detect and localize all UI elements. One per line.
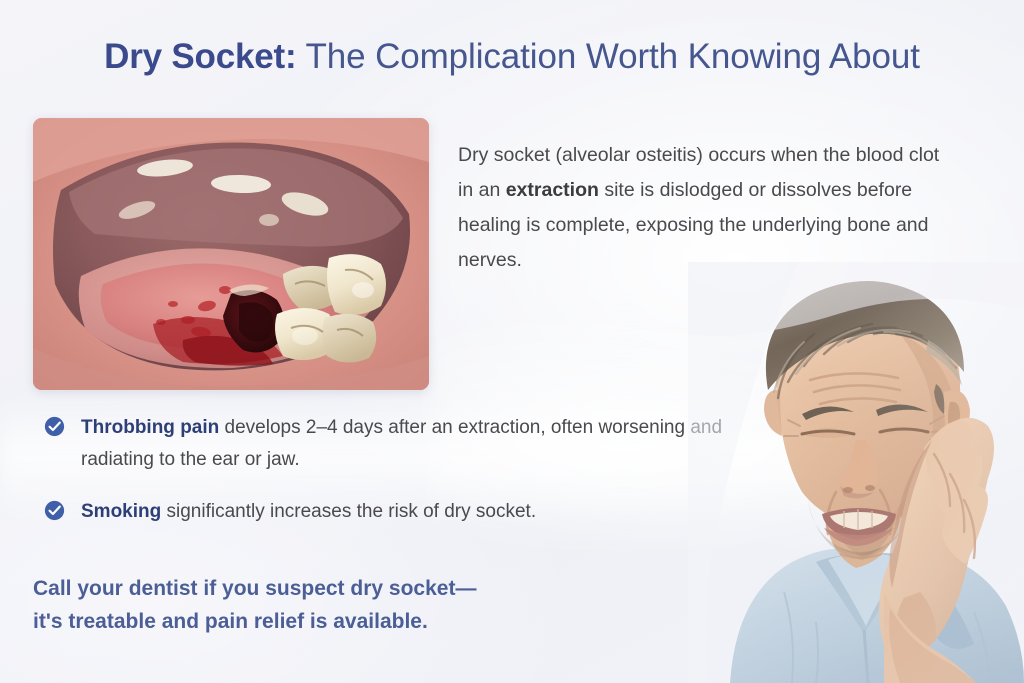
check-circle-glyph: [44, 500, 65, 521]
symptom-bullet-list: Throbbing pain develops 2–4 days after a…: [44, 412, 774, 528]
intro-text-emphasis: extraction: [506, 179, 599, 201]
cta-line-1: Call your dentist if you suspect dry soc…: [33, 572, 633, 605]
list-item-lead: Throbbing pain: [81, 417, 219, 438]
cta-line-2: it's treatable and pain relief is availa…: [33, 605, 633, 638]
intro-paragraph: Dry socket (alveolar osteitis) occurs wh…: [458, 138, 950, 278]
check-circle-glyph: [44, 416, 65, 437]
dry-socket-clinical-photo: [33, 118, 429, 390]
page-title-light: The Complication Worth Knowing About: [296, 37, 919, 76]
page-title: Dry Socket: The Complication Worth Knowi…: [0, 36, 1024, 77]
list-item-text: Smoking significantly increases the risk…: [81, 501, 536, 522]
list-item: Smoking significantly increases the risk…: [44, 496, 774, 528]
infographic-canvas: Dry Socket: The Complication Worth Knowi…: [0, 0, 1024, 683]
list-item: Throbbing pain develops 2–4 days after a…: [44, 412, 774, 476]
list-item-rest: significantly increases the risk of dry …: [161, 501, 536, 522]
page-title-strong: Dry Socket:: [104, 37, 296, 76]
clinical-photo-graphic: [33, 118, 429, 390]
check-circle-icon: [44, 500, 65, 521]
check-circle-icon: [44, 416, 65, 437]
call-to-action: Call your dentist if you suspect dry soc…: [33, 572, 633, 638]
list-item-lead: Smoking: [81, 501, 161, 522]
list-item-text: Throbbing pain develops 2–4 days after a…: [81, 417, 722, 470]
